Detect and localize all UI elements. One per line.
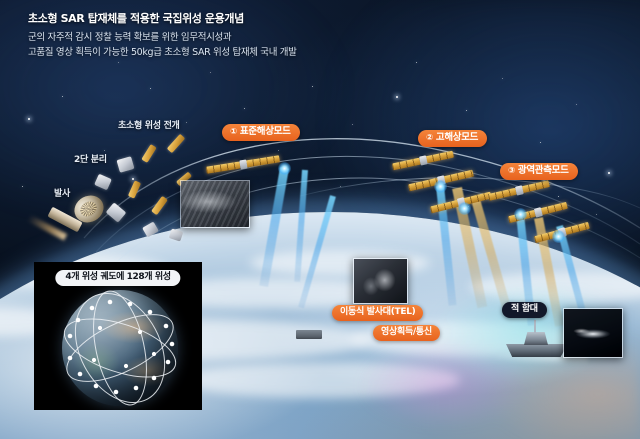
beam-source-glow-1 [278,162,291,175]
beam-source-glow-2 [434,180,447,193]
label-launch: 발사 [54,186,70,199]
sar-ship-image [564,309,622,357]
mode-badge-widearea[interactable]: ③ 광역관측모드 [500,163,578,180]
constellation-inset-panel: 4개 위성 궤도에 128개 위성 [34,262,202,410]
page-title: 초소형 SAR 탑재체를 적용한 국집위성 운용개념 [28,10,244,26]
constellation-caption: 4개 위성 궤도에 128개 위성 [55,270,180,286]
ship-hull [506,344,568,357]
mode-badge-highres[interactable]: ② 고해상모드 [418,130,487,147]
orbit-ring-1 [57,301,182,395]
beam-source-glow-5 [552,230,565,243]
sar-terrain-inset [180,180,250,228]
sar-ship-inset [563,308,623,358]
mode-badge-standard[interactable]: ① 표준해상모드 [222,124,300,141]
subtitle-line-1: 군의 자주적 감시 정찰 능력 확보를 위한 임무적시성과 [28,30,297,45]
sar-tel-inset [353,258,408,304]
orbit-arc-1 [84,139,640,238]
beam-source-glow-3 [458,202,471,215]
sar-terrain-image [181,181,249,227]
orbit-ring-3 [84,286,155,409]
label-satellite-deployment: 초소형 위성 전개 [118,118,180,131]
mode-badge-number-1: ① [230,128,237,137]
beam-source-glow-4 [514,208,527,221]
subtitle-line-2: 고품질 영상 획득이 가능한 50kg급 초소형 SAR 위성 탑재체 국내 개… [28,45,297,60]
tel-vehicle [296,330,322,339]
ship-mast [534,320,536,334]
label-image-acquisition-comms[interactable]: 영상획득/통신 [373,325,440,341]
mode-badge-number-2: ② [426,134,433,143]
ship-superstructure [524,332,548,345]
label-mobile-launcher-tel[interactable]: 이동식 발사대(TEL) [332,305,423,321]
label-stage-separation: 2단 분리 [74,152,107,165]
page-subtitle: 군의 자주적 감시 정찰 능력 확보를 위한 임무적시성과 고품질 영상 획득이… [28,30,297,60]
mode-badge-label-3: 광역관측모드 [518,166,569,176]
mode-badge-label-1: 표준해상모드 [240,127,291,137]
sar-tel-image [354,259,407,303]
infographic-canvas: 4개 위성 궤도에 128개 위성 초소형 SAR 탑재체를 적용한 국집위성 … [0,0,640,439]
globe-satellite-dots [68,300,175,395]
mode-badge-number-3: ③ [508,167,515,176]
mode-badge-label-2: 고해상모드 [436,133,478,143]
label-enemy-fleet[interactable]: 적 함대 [502,302,547,318]
